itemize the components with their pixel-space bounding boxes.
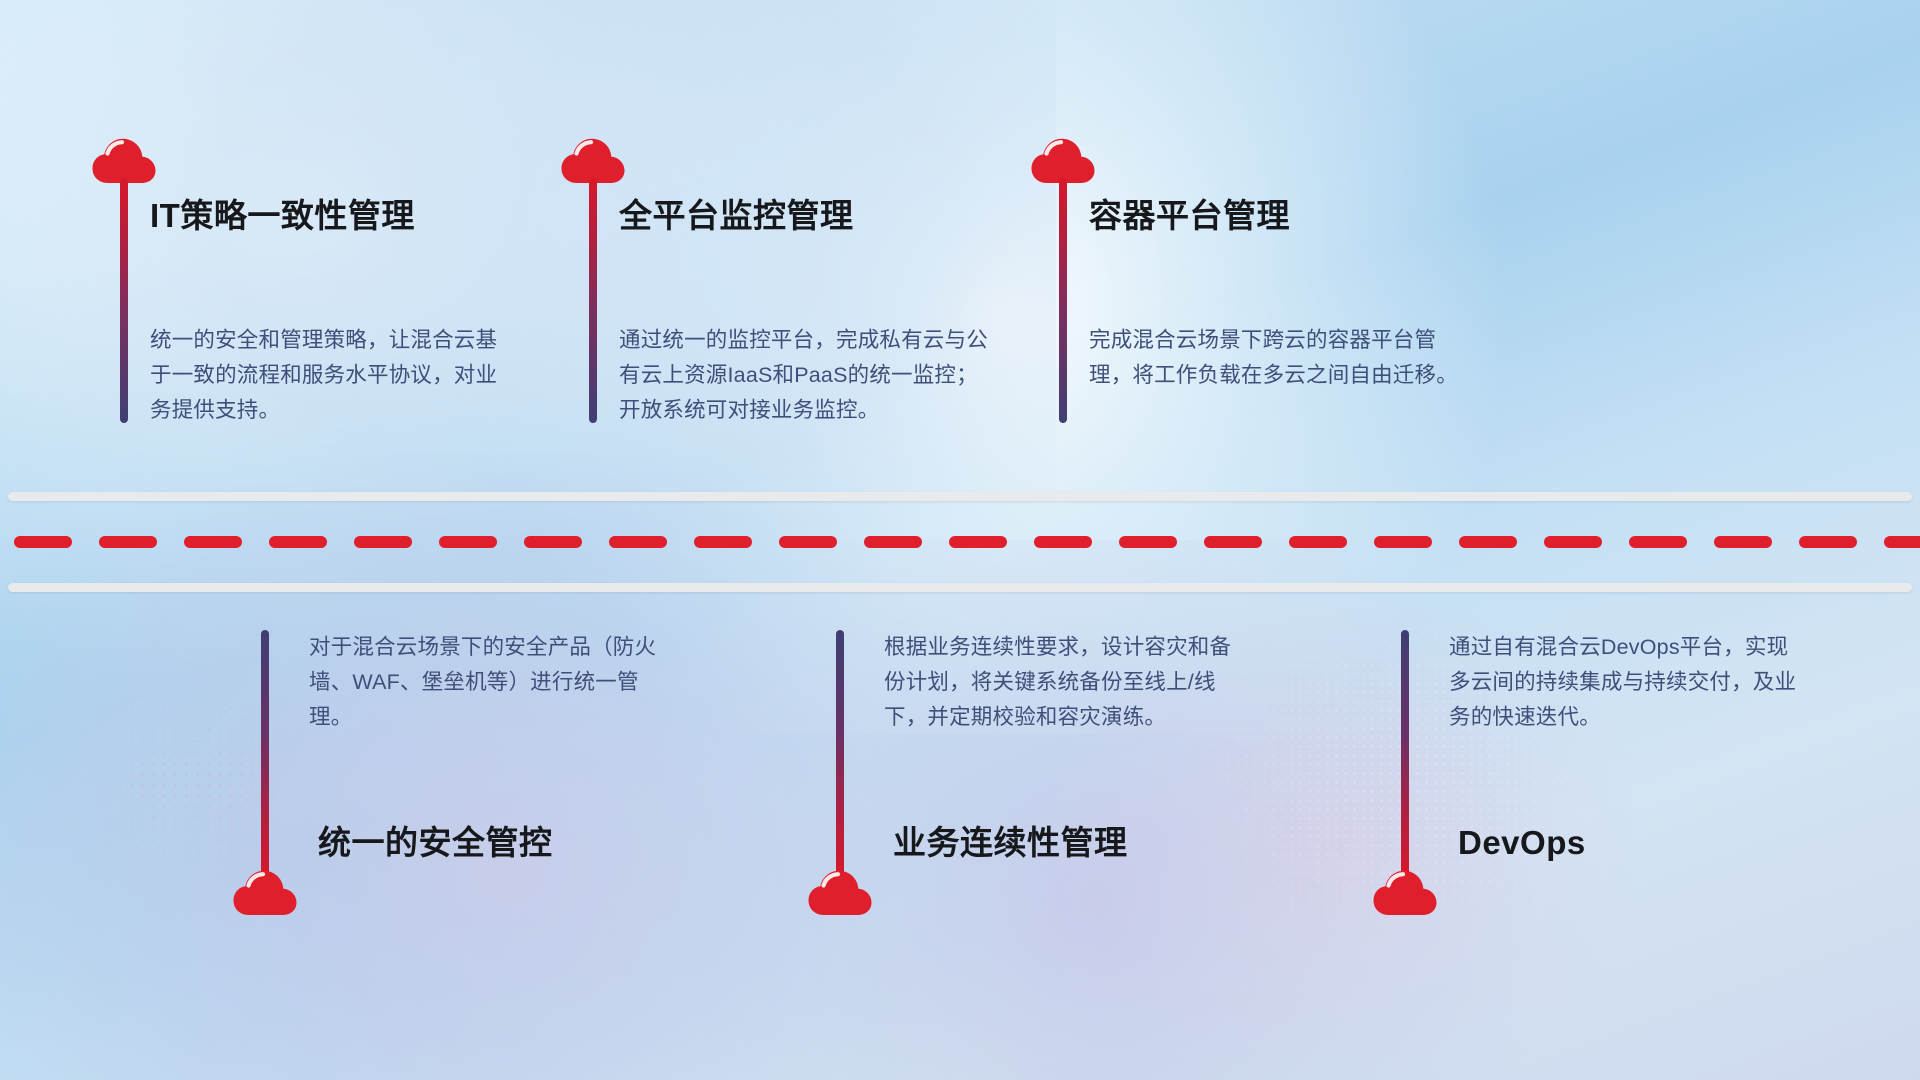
divider-dash <box>1459 536 1517 548</box>
stem-line <box>1059 178 1067 423</box>
divider-dash <box>439 536 497 548</box>
stem-line <box>589 178 597 423</box>
card-body: 完成混合云场景下跨云的容器平台管理，将工作负载在多云之间自由迁移。 <box>1089 323 1459 393</box>
divider-dash <box>1204 536 1262 548</box>
divider-rail-bottom <box>8 583 1912 592</box>
center-divider <box>0 492 1920 592</box>
cloud-icon <box>1373 870 1437 916</box>
divider-dash <box>1799 536 1857 548</box>
divider-dash <box>184 536 242 548</box>
card-body: 根据业务连续性要求，设计容灾和备份计划，将关键系统备份至线上/线下，并定期校验和… <box>884 630 1244 734</box>
divider-dash <box>864 536 922 548</box>
marker-business-continuity <box>820 630 860 930</box>
stem-line <box>120 178 128 423</box>
marker-platform-monitoring <box>573 138 613 438</box>
divider-dash <box>779 536 837 548</box>
stem-line <box>261 630 269 878</box>
card-heading: IT策略一致性管理 <box>150 198 415 234</box>
cloud-icon <box>808 870 872 916</box>
stem-line <box>836 630 844 878</box>
card-heading: DevOps <box>1458 825 1586 861</box>
marker-it-policy <box>104 138 144 438</box>
divider-dash <box>694 536 752 548</box>
divider-dashed-line <box>0 536 1920 548</box>
card-heading: 全平台监控管理 <box>619 198 854 234</box>
stem-line <box>1401 630 1409 878</box>
divider-dash <box>1119 536 1177 548</box>
divider-dash <box>99 536 157 548</box>
divider-dash <box>1289 536 1347 548</box>
divider-dash <box>949 536 1007 548</box>
card-body: 对于混合云场景下的安全产品（防火墙、WAF、堡垒机等）进行统一管理。 <box>309 630 669 734</box>
card-heading: 业务连续性管理 <box>893 825 1128 861</box>
card-body: 通过自有混合云DevOps平台，实现多云间的持续集成与持续交付，及业务的快速迭代… <box>1449 630 1809 734</box>
card-heading: 统一的安全管控 <box>318 825 553 861</box>
card-heading: 容器平台管理 <box>1089 198 1290 234</box>
divider-dash <box>1374 536 1432 548</box>
background-dot-texture-pink <box>38 626 345 928</box>
divider-dash <box>1544 536 1602 548</box>
divider-dash <box>1714 536 1772 548</box>
divider-dash <box>354 536 412 548</box>
divider-dash <box>14 536 72 548</box>
divider-dash <box>1629 536 1687 548</box>
divider-rail-top <box>8 492 1912 501</box>
cloud-icon <box>233 870 297 916</box>
divider-dash <box>269 536 327 548</box>
divider-dash <box>1884 536 1920 548</box>
card-body: 通过统一的监控平台，完成私有云与公有云上资源IaaS和PaaS的统一监控；开放系… <box>619 323 989 427</box>
marker-devops <box>1385 630 1425 930</box>
marker-unified-security <box>245 630 285 930</box>
card-body: 统一的安全和管理策略，让混合云基于一致的流程和服务水平协议，对业务提供支持。 <box>150 323 510 427</box>
divider-dash <box>1034 536 1092 548</box>
divider-dash <box>524 536 582 548</box>
divider-dash <box>609 536 667 548</box>
marker-container-platform <box>1043 138 1083 438</box>
